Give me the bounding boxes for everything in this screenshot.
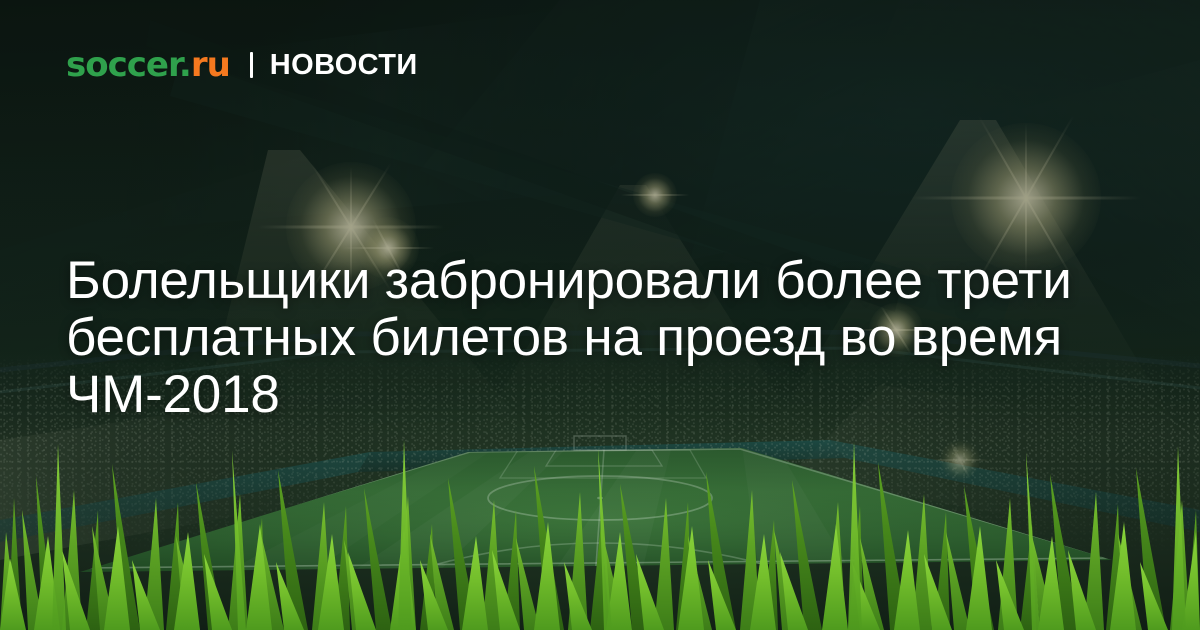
brand-bar[interactable]: soccer.ru НОВОСТИ [66,48,418,82]
soccer-ru-logo[interactable]: soccer.ru [66,48,230,82]
card-content: soccer.ru НОВОСТИ Болельщики забронирова… [0,0,1200,630]
brand-separator [250,52,253,78]
logo-dot: . [179,45,191,85]
logo-word-soccer: soccer [66,45,179,85]
section-label-news[interactable]: НОВОСТИ [270,51,418,80]
news-share-card: soccer.ru НОВОСТИ Болельщики забронирова… [0,0,1200,630]
logo-word-ru: ru [191,45,230,85]
article-headline: Болельщики забронировали более трети бес… [66,252,1156,423]
